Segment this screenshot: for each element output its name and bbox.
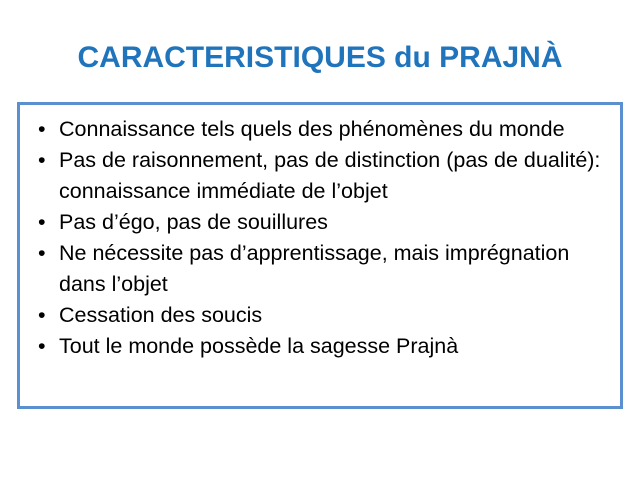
bullet-point-icon: • bbox=[38, 145, 54, 176]
list-item: • Tout le monde possède la sagesse Prajn… bbox=[36, 331, 612, 362]
list-item-text: Tout le monde possède la sagesse Prajnà bbox=[59, 331, 612, 362]
list-item-text: Ne nécessite pas d’apprentissage, mais i… bbox=[59, 238, 612, 300]
list-item-text: Connaissance tels quels des phénomènes d… bbox=[59, 114, 612, 145]
bullet-point-icon: • bbox=[38, 207, 54, 238]
list-item: • Ne nécessite pas d’apprentissage, mais… bbox=[36, 238, 612, 300]
list-item-text: Cessation des soucis bbox=[59, 300, 612, 331]
list-item: • Cessation des soucis bbox=[36, 300, 612, 331]
list-item: • Connaissance tels quels des phénomènes… bbox=[36, 114, 612, 145]
bullet-point-icon: • bbox=[38, 300, 54, 331]
page-title: CARACTERISTIQUES du PRAJNÀ bbox=[0, 40, 640, 76]
bullet-point-icon: • bbox=[38, 238, 54, 269]
bullet-list: • Connaissance tels quels des phénomènes… bbox=[20, 105, 620, 362]
content-box: • Connaissance tels quels des phénomènes… bbox=[17, 102, 623, 409]
bullet-point-icon: • bbox=[38, 331, 54, 362]
list-item-text: Pas d’égo, pas de souillures bbox=[59, 207, 612, 238]
list-item-text: Pas de raisonnement, pas de distinction … bbox=[59, 145, 612, 207]
list-item: • Pas de raisonnement, pas de distinctio… bbox=[36, 145, 612, 207]
bullet-point-icon: • bbox=[38, 114, 54, 145]
list-item: • Pas d’égo, pas de souillures bbox=[36, 207, 612, 238]
slide: CARACTERISTIQUES du PRAJNÀ • Connaissanc… bbox=[0, 0, 640, 480]
